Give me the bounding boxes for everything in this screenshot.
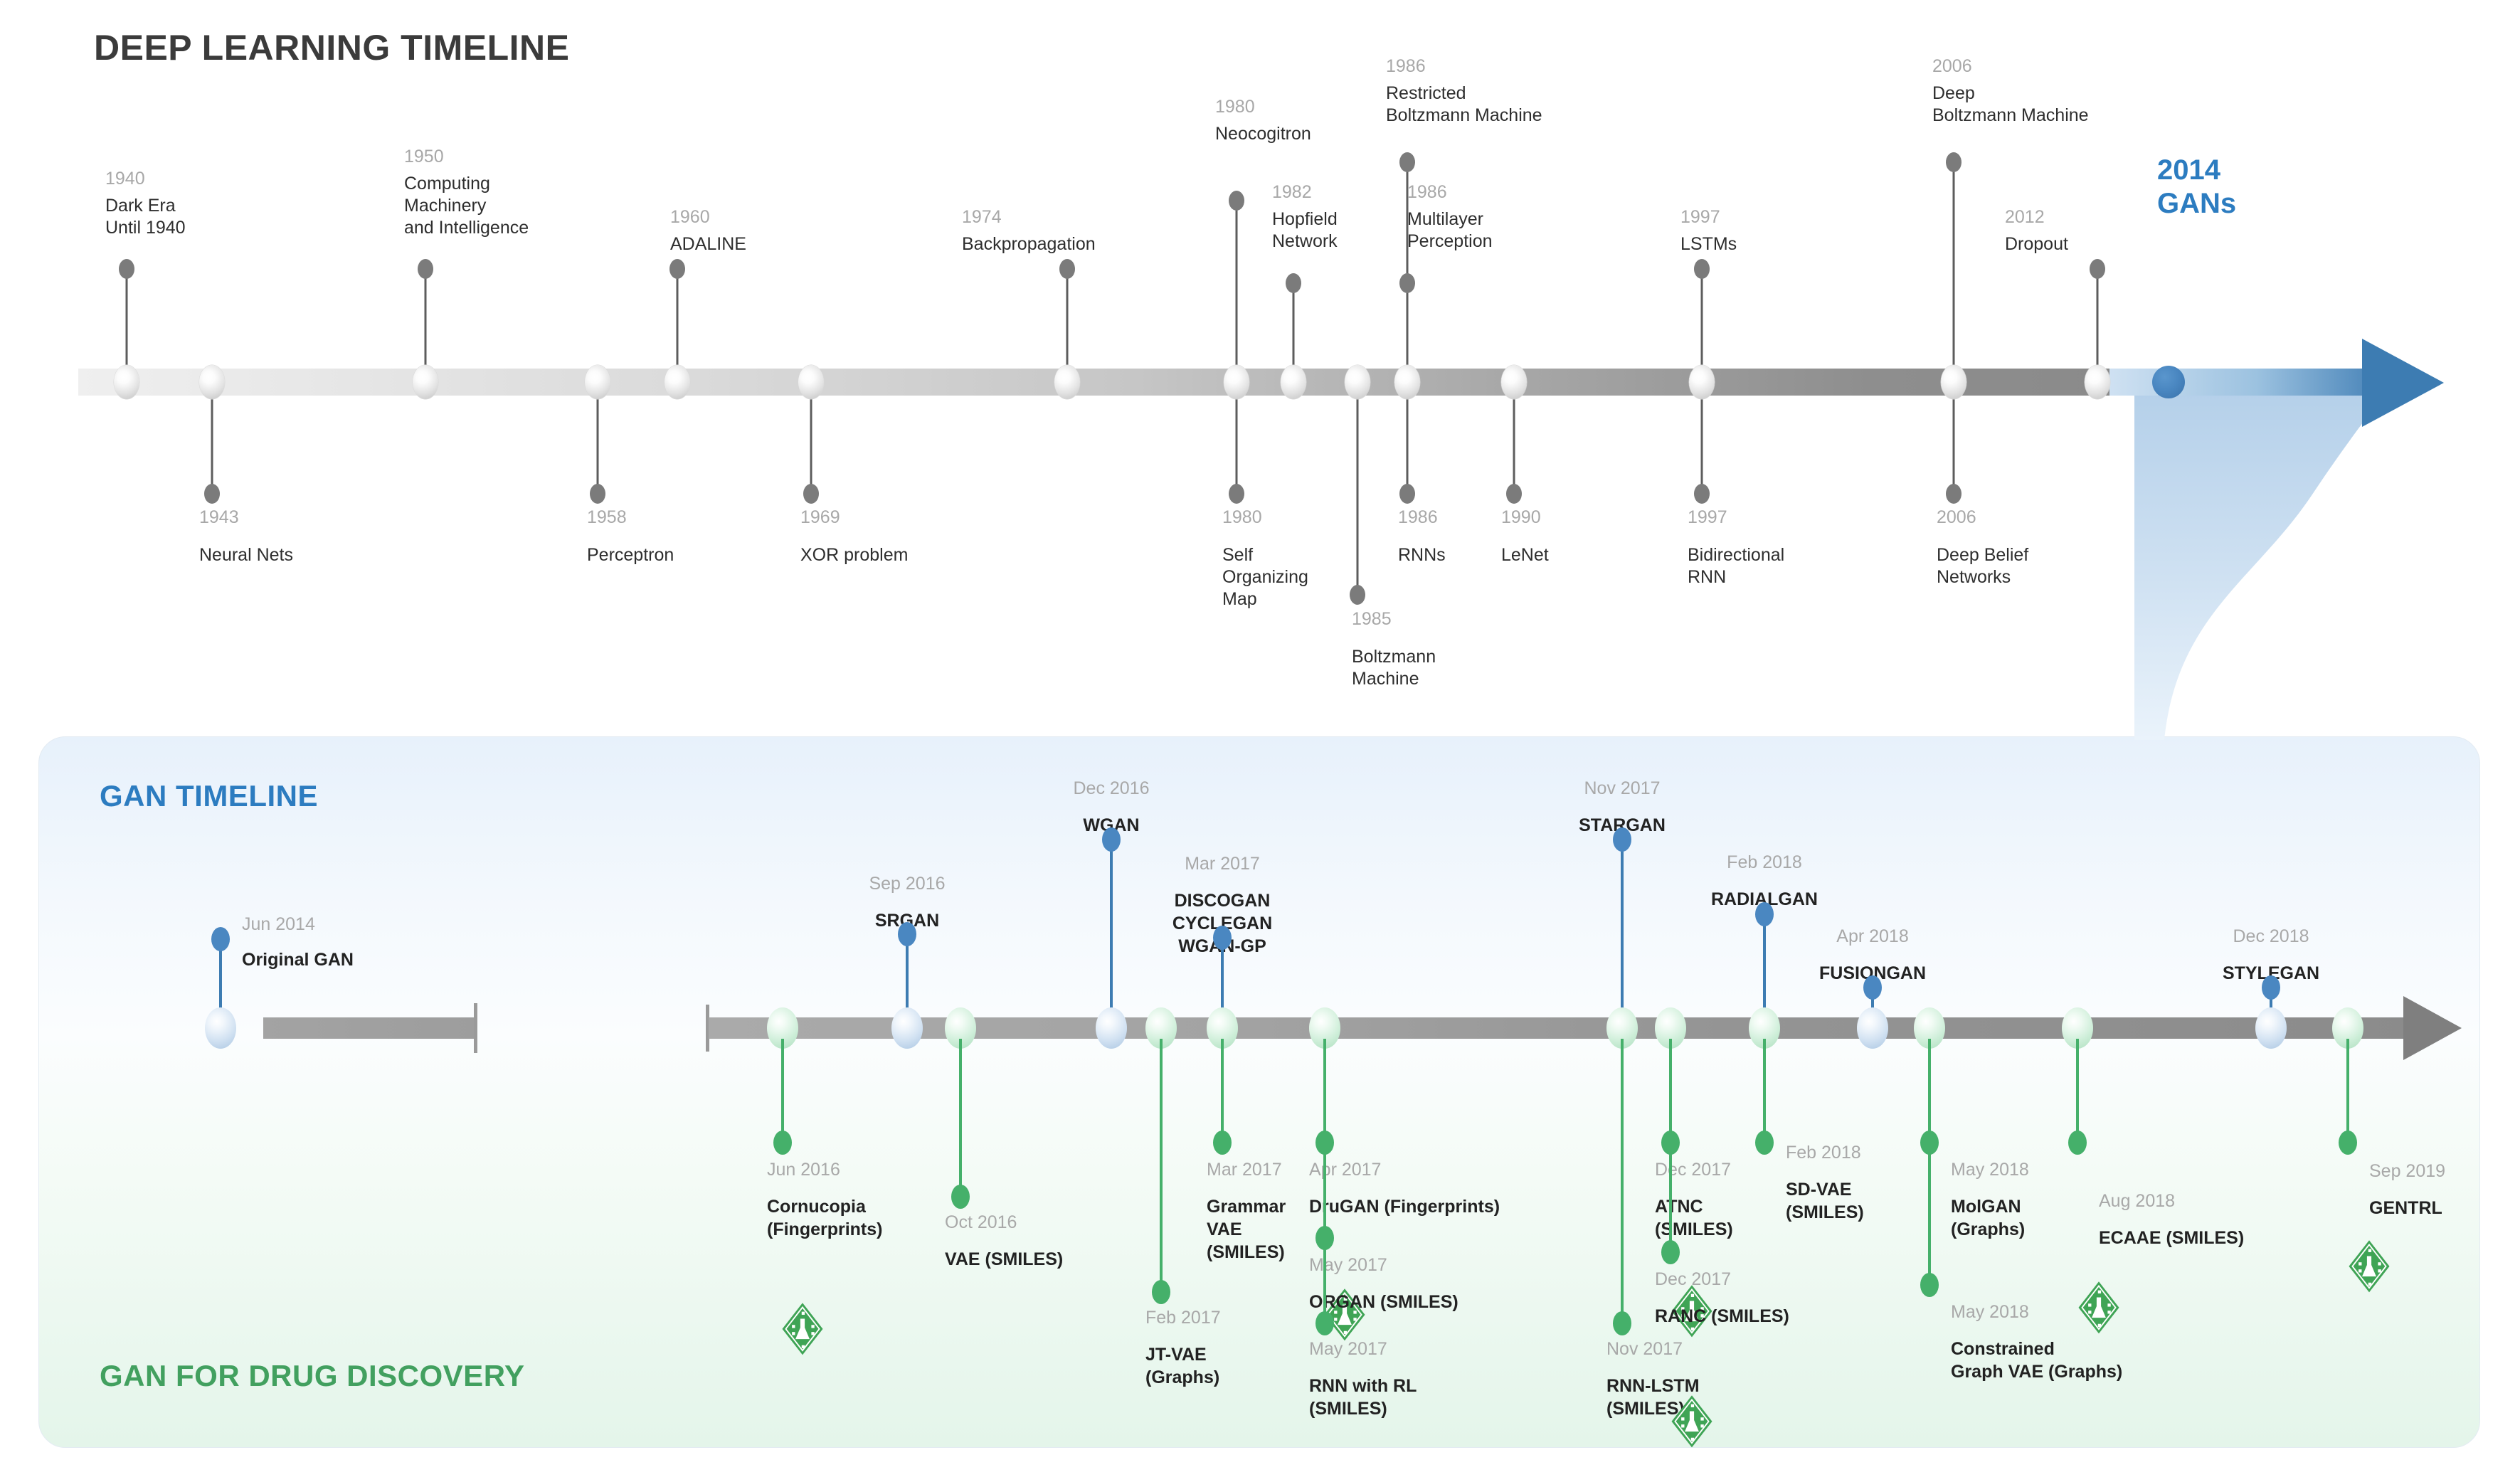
drug-item-year: Dec 2017 xyxy=(1655,1268,1731,1291)
dl-above-dot xyxy=(1286,273,1301,293)
gan-item-dot xyxy=(1755,902,1774,926)
dl-above-dot xyxy=(1399,152,1415,172)
dl-below-stem xyxy=(810,396,812,494)
dl-above-label: Neocogitron xyxy=(1215,123,1311,145)
timeline-node[interactable] xyxy=(1224,365,1249,399)
dl-above-year: 1940 xyxy=(105,168,145,190)
dl-below-label: RNNs xyxy=(1398,544,1446,566)
dl-below-label: Boltzmann Machine xyxy=(1352,646,1436,690)
dl-below-stem xyxy=(1357,396,1359,595)
drug-item-dot xyxy=(951,1185,970,1209)
timeline-node[interactable] xyxy=(665,365,690,399)
dl-below-dot xyxy=(1350,585,1365,605)
drug-item-label: JT-VAE (Graphs) xyxy=(1145,1343,1219,1389)
drug-item-badge xyxy=(1670,1394,1714,1452)
drug-item-year: Feb 2017 xyxy=(1145,1306,1221,1329)
drug-item-label: Cornucopia (Fingerprints) xyxy=(767,1195,883,1241)
timeline-node[interactable] xyxy=(2085,365,2110,399)
dl-above-year: 1960 xyxy=(670,206,710,228)
gan-item-year: Apr 2018 xyxy=(1836,925,1908,948)
drug-item-badge xyxy=(780,1302,825,1360)
molecule-chip-badge-icon xyxy=(2077,1281,2121,1335)
drug-item-label: MolGAN (Graphs) xyxy=(1951,1195,2025,1241)
gan-timeline-node[interactable] xyxy=(1857,1007,1888,1049)
dl-above-year: 1980 xyxy=(1215,96,1255,118)
dl-above-stem xyxy=(1236,201,1238,369)
section-title-drug-discovery: GAN FOR DRUG DISCOVERY xyxy=(100,1359,524,1393)
drug-item-badge xyxy=(2077,1281,2121,1338)
section-title-gan: GAN TIMELINE xyxy=(100,779,318,813)
dl-above-stem xyxy=(1701,269,1703,369)
dl-below-label: XOR problem xyxy=(800,544,908,566)
dl-below-stem xyxy=(1513,396,1515,494)
gan-item-stem xyxy=(1763,914,1766,1017)
drug-item-dot xyxy=(773,1131,792,1155)
dl-below-year: 1958 xyxy=(587,507,627,529)
drug-item-label: RANC (SMILES) xyxy=(1655,1305,1789,1328)
drug-item-stem xyxy=(2076,1039,2079,1143)
dl-below-year: 1986 xyxy=(1398,507,1438,529)
dl-above-stem xyxy=(2097,269,2099,369)
gan-timeline-left-cap xyxy=(474,1003,477,1053)
dl-above-label: Deep Boltzmann Machine xyxy=(1932,83,2089,127)
dl-above-dot xyxy=(2090,259,2105,279)
timeline-node[interactable] xyxy=(413,365,438,399)
drug-item-label: VAE (SMILES) xyxy=(945,1248,1063,1271)
dl-above-dot xyxy=(669,259,685,279)
dl-below-label: Deep Belief Networks xyxy=(1937,544,2028,588)
drug-item-dot xyxy=(1661,1240,1680,1264)
dl-above-year: 1982 xyxy=(1272,181,1312,203)
gan-original-node[interactable] xyxy=(205,1007,236,1049)
dl-above-label: Backpropagation xyxy=(962,233,1096,255)
gan-item-stem xyxy=(1110,840,1113,1017)
timeline-node[interactable] xyxy=(114,365,139,399)
dl-below-dot xyxy=(1399,484,1415,504)
timeline-node[interactable] xyxy=(1501,365,1527,399)
drug-item-dot xyxy=(1920,1273,1939,1297)
dl-below-dot xyxy=(590,484,605,504)
dl-above-label: Computing Machinery and Intelligence xyxy=(404,173,529,239)
drug-item-year: Aug 2018 xyxy=(2099,1190,2175,1212)
gans-name: GANs xyxy=(2157,188,2236,219)
timeline-node[interactable] xyxy=(1394,365,1420,399)
drug-item-dot xyxy=(1755,1131,1774,1155)
molecule-chip-badge-icon xyxy=(1670,1394,1714,1449)
gan-item-dot xyxy=(1213,926,1232,950)
gan-original-label: Original GAN xyxy=(242,948,354,971)
dl-above-label: Dropout xyxy=(2005,233,2068,255)
dl-above-dot xyxy=(1399,273,1415,293)
timeline-node[interactable] xyxy=(1689,365,1715,399)
gan-item-year: Sep 2016 xyxy=(869,872,945,895)
dl-below-year: 1943 xyxy=(199,507,239,529)
drug-item-label: DruGAN (Fingerprints) xyxy=(1309,1195,1500,1218)
dl-above-stem xyxy=(1407,283,1409,369)
drug-item-stem xyxy=(1323,1039,1326,1323)
dl-above-dot xyxy=(418,259,433,279)
dl-above-dot xyxy=(1059,259,1075,279)
dl-above-label: ADALINE xyxy=(670,233,746,255)
dl-below-year: 1985 xyxy=(1352,608,1392,630)
dl-below-label: LeNet xyxy=(1501,544,1549,566)
drug-item-dot xyxy=(1613,1311,1631,1335)
drug-item-stem xyxy=(2346,1039,2349,1143)
dl-above-year: 1950 xyxy=(404,146,444,168)
gan-timeline-node[interactable] xyxy=(2255,1007,2287,1049)
dl-above-label: Multilayer Perception xyxy=(1407,208,1493,253)
gan-item-year: Dec 2018 xyxy=(2233,925,2309,948)
drug-item-label: ORGAN (SMILES) xyxy=(1309,1291,1458,1313)
gan-item-dot xyxy=(2262,975,2280,1000)
deep-learning-timeline-bar-blue xyxy=(2109,369,2376,396)
drug-item-stem xyxy=(959,1039,962,1197)
timeline-node[interactable] xyxy=(798,365,824,399)
timeline-node[interactable] xyxy=(199,365,225,399)
dl-above-label: Restricted Boltzmann Machine xyxy=(1386,83,1542,127)
gan-original-year: Jun 2014 xyxy=(242,913,315,936)
drug-item-stem xyxy=(1928,1039,1931,1285)
dl-above-year: 2006 xyxy=(1932,55,1972,78)
drug-item-label: ECAAE (SMILES) xyxy=(2099,1227,2244,1249)
drug-item-stem xyxy=(781,1039,784,1143)
drug-item-year: Dec 2017 xyxy=(1655,1158,1731,1181)
drug-item-year: Oct 2016 xyxy=(945,1211,1017,1234)
gans-year: 2014 xyxy=(2157,154,2220,186)
drug-item-year: Mar 2017 xyxy=(1207,1158,1282,1181)
dl-below-dot xyxy=(1946,484,1962,504)
gan-funnel-connector xyxy=(2134,381,2440,740)
gan-timeline-node[interactable] xyxy=(1096,1007,1127,1049)
timeline-node[interactable] xyxy=(1054,365,1080,399)
dl-below-stem xyxy=(1953,396,1955,494)
molecule-chip-badge-icon xyxy=(2347,1239,2391,1293)
gan-item-dot xyxy=(898,922,916,946)
drug-item-dot xyxy=(1315,1311,1334,1335)
gans-highlight-label: 2014 GANs xyxy=(2157,154,2236,221)
dl-below-stem xyxy=(211,396,213,494)
drug-item-stem xyxy=(1669,1039,1672,1252)
infographic-canvas: DEEP LEARNING TIMELINE GAN TIMELINE GAN … xyxy=(0,0,2520,1482)
dl-below-label: Neural Nets xyxy=(199,544,293,566)
drug-item-dot xyxy=(1213,1131,1232,1155)
timeline-node[interactable] xyxy=(1941,365,1966,399)
drug-item-label: Grammar VAE (SMILES) xyxy=(1207,1195,1286,1264)
drug-item-year: Feb 2018 xyxy=(1786,1141,1861,1164)
gan-timeline-node[interactable] xyxy=(891,1007,923,1049)
drug-item-year: Apr 2017 xyxy=(1309,1158,1381,1181)
dl-above-year: 1986 xyxy=(1407,181,1447,203)
dl-above-dot xyxy=(119,259,134,279)
drug-item-stem xyxy=(1221,1039,1224,1143)
drug-item-year: May 2018 xyxy=(1951,1158,2029,1181)
timeline-node[interactable] xyxy=(585,365,610,399)
dl-below-dot xyxy=(204,484,220,504)
dl-below-year: 1990 xyxy=(1501,507,1541,529)
dl-above-label: Hopfield Network xyxy=(1272,208,1338,253)
drug-item-label: Constrained Graph VAE (Graphs) xyxy=(1951,1338,2122,1383)
dl-above-label: Dark Era Until 1940 xyxy=(105,195,186,239)
dl-below-label: Perceptron xyxy=(587,544,674,566)
gan-item-dot xyxy=(1613,827,1631,852)
dl-below-label: Self Organizing Map xyxy=(1222,544,1308,610)
drug-item-label: RNN with RL (SMILES) xyxy=(1309,1375,1417,1420)
dl-above-stem xyxy=(1066,269,1069,369)
dl-above-stem xyxy=(1953,162,1955,369)
gan-timeline-bar-left xyxy=(263,1017,475,1039)
drug-item-dot xyxy=(2068,1131,2087,1155)
dl-above-stem xyxy=(677,269,679,369)
dl-below-year: 1980 xyxy=(1222,507,1262,529)
gan-item-dot xyxy=(1863,975,1882,1000)
gan-arrow-icon xyxy=(2403,996,2462,1060)
timeline-node[interactable] xyxy=(1345,365,1370,399)
dl-below-dot xyxy=(1506,484,1522,504)
gan-item-dot xyxy=(1102,827,1121,852)
gan-item-year: Dec 2016 xyxy=(1073,777,1149,800)
dl-below-year: 2006 xyxy=(1937,507,1976,529)
drug-item-label: ATNC (SMILES) xyxy=(1655,1195,1733,1241)
drug-item-year: May 2018 xyxy=(1951,1301,2029,1323)
dl-above-year: 1974 xyxy=(962,206,1002,228)
dl-below-year: 1997 xyxy=(1688,507,1727,529)
dl-below-year: 1969 xyxy=(800,507,840,529)
molecule-chip-badge-icon xyxy=(780,1302,825,1356)
gan-original-dot xyxy=(211,927,230,951)
gan-item-stem xyxy=(1621,840,1624,1017)
drug-item-stem xyxy=(1621,1039,1624,1323)
dl-above-year: 1997 xyxy=(1680,206,1720,228)
gan-item-stem xyxy=(906,934,909,1017)
dl-below-label: Bidirectional RNN xyxy=(1688,544,1784,588)
dl-below-dot xyxy=(803,484,819,504)
dl-above-stem xyxy=(126,269,128,369)
dl-above-label: LSTMs xyxy=(1680,233,1737,255)
dl-above-stem xyxy=(1293,283,1295,369)
dl-below-stem xyxy=(1236,396,1238,494)
dl-above-dot xyxy=(1229,191,1244,211)
drug-item-stem xyxy=(1763,1039,1766,1143)
deep-learning-arrow-icon xyxy=(2362,339,2444,427)
gan-item-year: Feb 2018 xyxy=(1727,851,1802,874)
drug-item-label: SD-VAE (SMILES) xyxy=(1786,1178,1864,1224)
drug-item-year: Sep 2019 xyxy=(2369,1160,2445,1182)
dl-below-dot xyxy=(1229,484,1244,504)
dl-above-stem xyxy=(425,269,427,369)
drug-item-label: GENTRL xyxy=(2369,1197,2442,1219)
drug-item-stem xyxy=(1160,1039,1163,1292)
dl-below-stem xyxy=(1701,396,1703,494)
dl-above-dot xyxy=(1694,259,1710,279)
dl-above-year: 1986 xyxy=(1386,55,1426,78)
timeline-node[interactable] xyxy=(2152,366,2185,398)
gan-item-year: Mar 2017 xyxy=(1185,852,1260,875)
dl-below-stem xyxy=(1407,396,1409,494)
dl-below-dot xyxy=(1694,484,1710,504)
drug-item-year: May 2017 xyxy=(1309,1338,1387,1360)
timeline-node[interactable] xyxy=(1281,365,1306,399)
drug-item-year: May 2017 xyxy=(1309,1254,1387,1276)
drug-item-dot xyxy=(2339,1131,2357,1155)
drug-item-dot xyxy=(1152,1280,1170,1304)
dl-above-year: 2012 xyxy=(2005,206,2045,228)
drug-item-badge xyxy=(2347,1239,2391,1297)
dl-above-dot xyxy=(1946,152,1962,172)
gan-item-year: Nov 2017 xyxy=(1584,777,1660,800)
drug-item-year: Jun 2016 xyxy=(767,1158,840,1181)
page-title-deep-learning: DEEP LEARNING TIMELINE xyxy=(94,27,569,68)
dl-below-stem xyxy=(597,396,599,494)
